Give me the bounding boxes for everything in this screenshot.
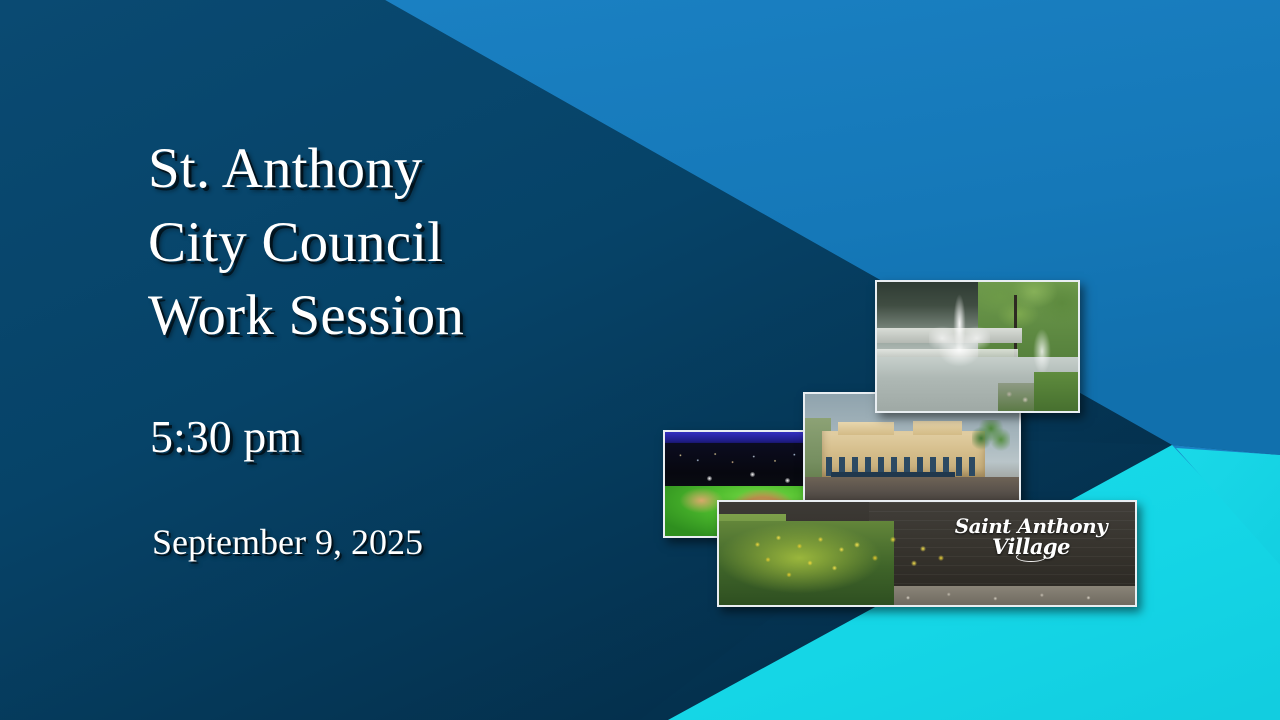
background-geometry: [0, 0, 1280, 720]
meeting-time-text: 5:30 pm: [150, 412, 302, 463]
slide-canvas: Saint Anthony Village St. Anthony City C…: [0, 0, 1280, 720]
meeting-date: September 9, 2025: [152, 523, 423, 563]
title-line-1: St. Anthony: [148, 132, 708, 206]
title-line-2: City Council: [148, 206, 708, 280]
title-line-3: Work Session: [148, 279, 708, 353]
page-title: St. Anthony City Council Work Session: [148, 132, 708, 353]
meeting-time: 5:30 pm: [150, 412, 302, 463]
background-shapes: [0, 0, 1280, 720]
meeting-date-text: September 9, 2025: [152, 523, 423, 563]
